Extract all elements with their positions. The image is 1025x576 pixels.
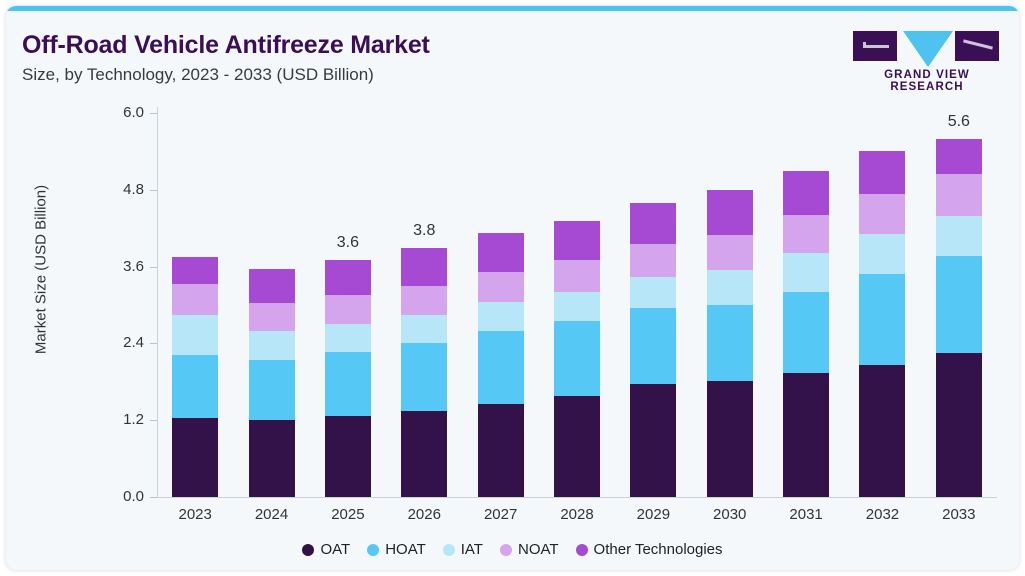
bar-segment[interactable] xyxy=(630,244,676,277)
bar-segment[interactable] xyxy=(783,292,829,374)
legend-swatch-icon xyxy=(500,544,512,556)
bar-segment[interactable] xyxy=(478,331,524,403)
bar-segment[interactable] xyxy=(172,418,218,497)
x-axis-tick-label: 2028 xyxy=(537,506,617,523)
bar-segment[interactable] xyxy=(630,203,676,245)
bar-segment[interactable] xyxy=(859,234,905,274)
chart-plot-area: Market Size (USD Billion) 0.01.22.43.64.… xyxy=(6,6,1019,570)
bar-segment[interactable] xyxy=(859,151,905,193)
y-axis-tick-label: 0.0 xyxy=(96,488,144,505)
bar-stack[interactable] xyxy=(478,113,524,497)
legend-item[interactable]: Other Technologies xyxy=(576,541,723,558)
y-axis-tick-mark xyxy=(150,420,157,421)
bar-segment[interactable] xyxy=(401,343,447,411)
bar-segment[interactable] xyxy=(630,384,676,497)
bar-stack[interactable] xyxy=(783,113,829,497)
bar-segment[interactable] xyxy=(783,253,829,291)
bar-segment[interactable] xyxy=(859,274,905,365)
y-axis-tick-mark xyxy=(150,267,157,268)
bar-segment[interactable] xyxy=(707,305,753,381)
bar-segment[interactable] xyxy=(554,260,600,292)
legend-item-label: OAT xyxy=(320,541,350,558)
x-axis-tick-label: 2033 xyxy=(919,506,999,523)
y-axis-tick-label: 2.4 xyxy=(96,334,144,351)
bar-segment[interactable] xyxy=(249,420,295,497)
bar-segment[interactable] xyxy=(325,324,371,353)
bar-segment[interactable] xyxy=(401,411,447,497)
y-axis-tick-mark xyxy=(150,113,157,114)
bar-segment[interactable] xyxy=(554,221,600,261)
chart-card: Off-Road Vehicle Antifreeze Market Size,… xyxy=(6,6,1019,570)
legend-swatch-icon xyxy=(443,544,455,556)
bar-segment[interactable] xyxy=(707,381,753,497)
bar-segment[interactable] xyxy=(936,174,982,216)
bar-total-label: 5.6 xyxy=(924,113,994,131)
y-axis-tick-label: 4.8 xyxy=(96,181,144,198)
legend-swatch-icon xyxy=(367,544,379,556)
y-axis-tick-label: 6.0 xyxy=(96,104,144,121)
bar-segment[interactable] xyxy=(401,248,447,286)
bar-segment[interactable] xyxy=(478,404,524,497)
legend-item-label: IAT xyxy=(461,541,483,558)
bar-segment[interactable] xyxy=(783,373,829,497)
x-axis-tick-label: 2025 xyxy=(308,506,388,523)
bar-segment[interactable] xyxy=(783,171,829,215)
bar-segment[interactable] xyxy=(936,139,982,175)
bar-segment[interactable] xyxy=(249,303,295,331)
bar-segment[interactable] xyxy=(249,360,295,420)
bar-segment[interactable] xyxy=(936,353,982,497)
bar-segment[interactable] xyxy=(478,233,524,272)
legend-item[interactable]: OAT xyxy=(302,541,350,558)
bar-segment[interactable] xyxy=(707,190,753,235)
bar-segment[interactable] xyxy=(478,302,524,331)
bar-segment[interactable] xyxy=(554,321,600,396)
x-axis-line xyxy=(157,497,997,498)
bar-segment[interactable] xyxy=(554,396,600,497)
bar-stack[interactable] xyxy=(554,113,600,497)
bar-segment[interactable] xyxy=(401,286,447,315)
bar-segment[interactable] xyxy=(859,365,905,497)
bar-stack[interactable] xyxy=(172,113,218,497)
bar-total-label: 3.6 xyxy=(313,234,383,252)
legend-item[interactable]: NOAT xyxy=(500,541,559,558)
bar-stack[interactable] xyxy=(249,113,295,497)
x-axis-tick-label: 2030 xyxy=(690,506,770,523)
bar-segment[interactable] xyxy=(936,216,982,256)
bar-segment[interactable] xyxy=(172,284,218,315)
bar-segment[interactable] xyxy=(707,235,753,270)
x-axis-tick-label: 2031 xyxy=(766,506,846,523)
x-axis-tick-label: 2032 xyxy=(842,506,922,523)
chart-legend: OATHOATIATNOATOther Technologies xyxy=(6,541,1019,558)
bar-segment[interactable] xyxy=(172,355,218,418)
bar-stack[interactable] xyxy=(859,113,905,497)
x-axis-tick-label: 2027 xyxy=(461,506,541,523)
y-axis-tick-mark xyxy=(150,343,157,344)
y-axis-tick-label: 1.2 xyxy=(96,411,144,428)
bar-segment[interactable] xyxy=(859,194,905,234)
bar-segment[interactable] xyxy=(630,277,676,307)
bar-segment[interactable] xyxy=(172,257,218,284)
bar-segment[interactable] xyxy=(554,292,600,321)
x-axis-tick-label: 2029 xyxy=(613,506,693,523)
bar-segment[interactable] xyxy=(325,416,371,497)
legend-item-label: Other Technologies xyxy=(594,541,723,558)
legend-swatch-icon xyxy=(302,544,314,556)
bar-segment[interactable] xyxy=(249,331,295,360)
bar-segment[interactable] xyxy=(249,269,295,304)
legend-item[interactable]: IAT xyxy=(443,541,483,558)
bar-stack[interactable] xyxy=(707,113,753,497)
bar-stack[interactable]: 3.6 xyxy=(325,113,371,497)
legend-item[interactable]: HOAT xyxy=(367,541,426,558)
y-axis-title: Market Size (USD Billion) xyxy=(33,130,50,410)
bar-segment[interactable] xyxy=(401,315,447,343)
y-axis-tick-label: 3.6 xyxy=(96,258,144,275)
y-axis-line xyxy=(157,107,158,497)
bar-segment[interactable] xyxy=(478,272,524,302)
bar-segment[interactable] xyxy=(936,256,982,353)
bar-segment[interactable] xyxy=(707,270,753,305)
bar-segment[interactable] xyxy=(325,352,371,415)
bar-stack[interactable]: 5.6 xyxy=(936,113,982,497)
x-axis-tick-label: 2023 xyxy=(155,506,235,523)
x-axis-tick-label: 2024 xyxy=(232,506,312,523)
legend-item-label: HOAT xyxy=(385,541,426,558)
y-axis-tick-mark xyxy=(150,190,157,191)
bar-segment[interactable] xyxy=(325,295,371,323)
bar-segment[interactable] xyxy=(783,215,829,253)
bar-stack[interactable] xyxy=(630,113,676,497)
bar-total-label: 3.8 xyxy=(389,222,459,240)
bar-stack[interactable]: 3.8 xyxy=(401,113,447,497)
bar-segment[interactable] xyxy=(172,315,218,355)
y-axis-tick-mark xyxy=(150,497,157,498)
legend-swatch-icon xyxy=(576,544,588,556)
bar-segment[interactable] xyxy=(630,308,676,385)
legend-item-label: NOAT xyxy=(518,541,559,558)
x-axis-tick-label: 2026 xyxy=(384,506,464,523)
bar-segment[interactable] xyxy=(325,260,371,296)
